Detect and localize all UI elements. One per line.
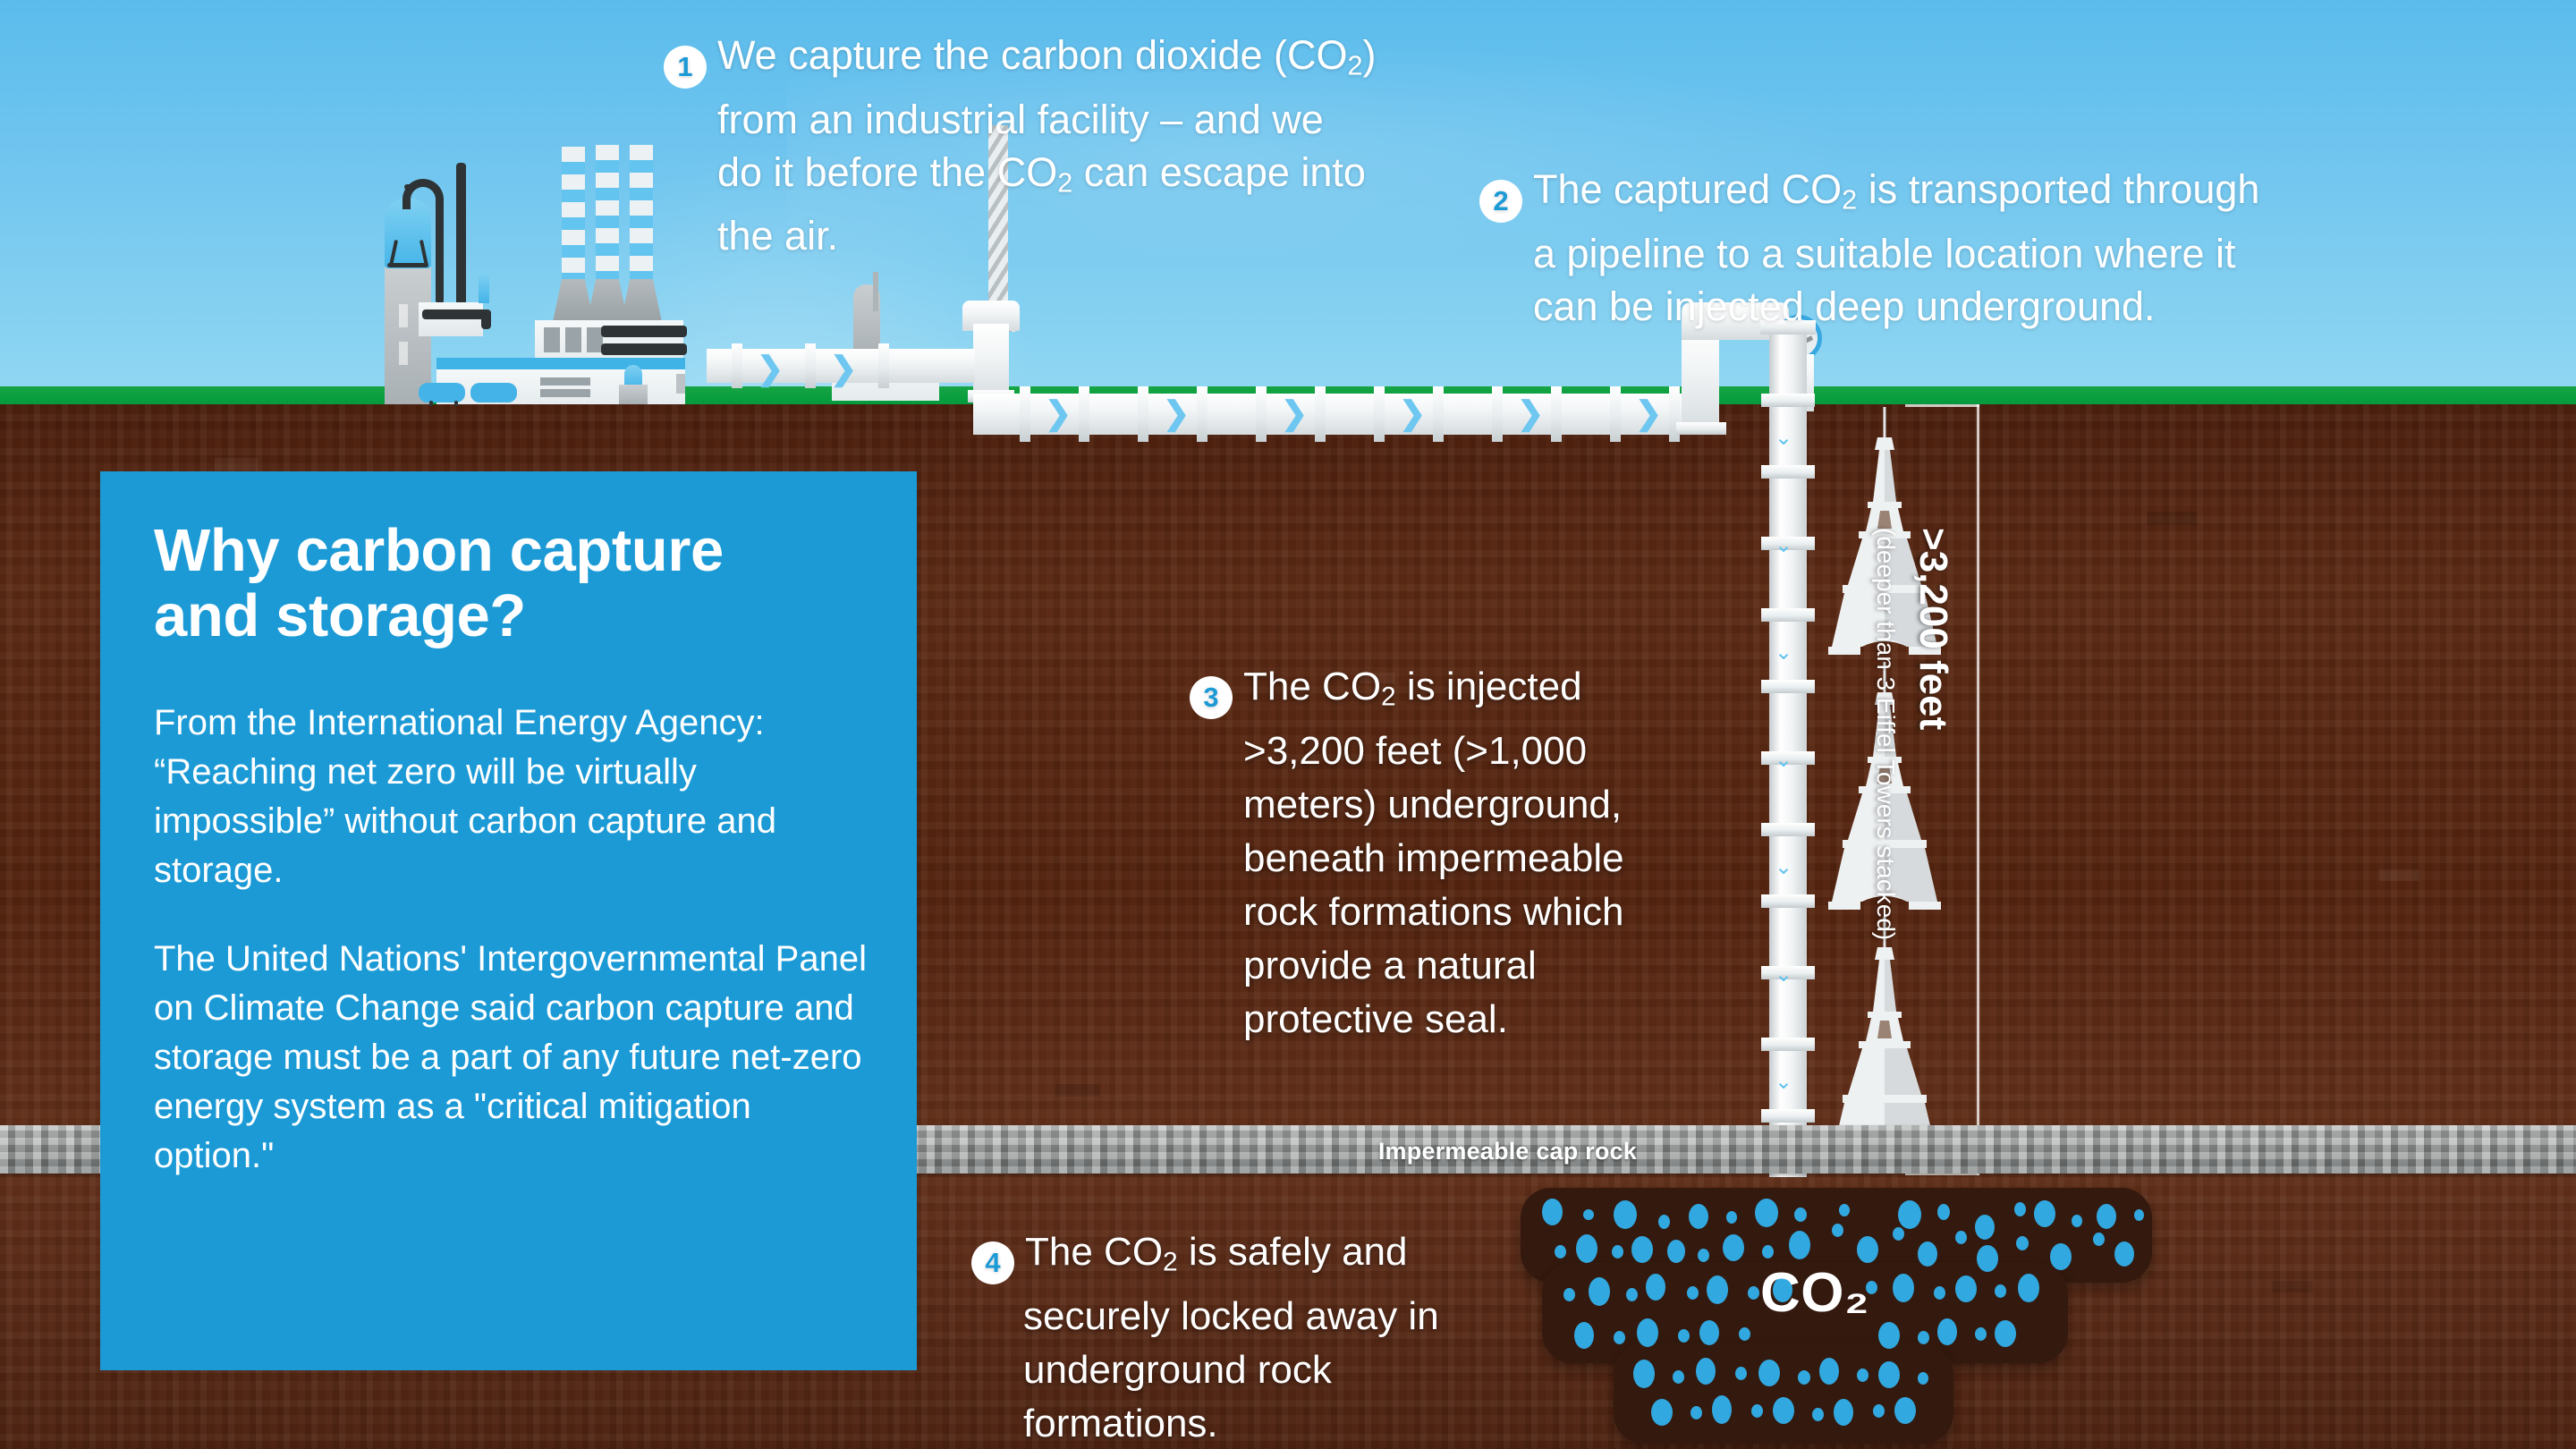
co2-reservoir-label: CO₂: [1760, 1261, 1869, 1325]
depth-bracket-top-tick: [1905, 404, 1979, 407]
co2-flow-down-icon: ⌄: [1775, 750, 1791, 771]
step-3-line-5: rock formations which: [1243, 885, 1624, 939]
step-3-line-3: meters) underground,: [1243, 778, 1624, 832]
step-3-text-1: The CO2 is injected: [1243, 665, 1582, 708]
step-callout-1: 1We capture the carbon dioxide (CO2) fro…: [664, 29, 1377, 262]
step-4-text-1: The CO2 is safely and: [1025, 1230, 1408, 1274]
co2-flow-down-icon: ⌄: [1775, 428, 1791, 449]
flow-arrow-icon: ❯: [1517, 397, 1544, 429]
step-callout-4: 4The CO2 is safely and securely locked a…: [971, 1225, 1439, 1449]
step-number-badge-2: 2: [1479, 180, 1522, 223]
step-2-line-1: 2The captured CO2 is transported through: [1479, 163, 2259, 227]
co2-flow-down-icon: ⌄: [1775, 535, 1791, 556]
step-1-line-2: from an industrial facility – and we: [717, 93, 1377, 146]
panel-paragraph-iea: From the International Energy Agency: “R…: [154, 699, 867, 895]
step-number-badge-3: 3: [1190, 676, 1233, 719]
step-2-text-1: The captured CO2 is transported through: [1533, 166, 2259, 212]
co2-flow-down-icon: ⌄: [1775, 857, 1791, 878]
flow-arrow-icon: ❯: [1045, 397, 1072, 429]
depth-bracket-line: [1977, 404, 1979, 1175]
step-2-line-2: a pipeline to a suitable location where …: [1533, 227, 2259, 280]
step-3-line-6: provide a natural: [1243, 939, 1624, 993]
co2-reservoir: CO₂: [1521, 1181, 2227, 1449]
step-2-line-3: can be injected deep underground.: [1533, 280, 2259, 333]
why-ccs-panel: Why carbon capture and storage? From the…: [100, 471, 917, 1370]
step-callout-3: 3The CO2 is injected >3,200 feet (>1,000…: [1190, 660, 1624, 1046]
panel-paragraph-ipcc: The United Nations' Intergovernmental Pa…: [154, 935, 867, 1181]
step-number-badge-4: 4: [971, 1241, 1014, 1284]
infographic-canvas: ❯ ❯ ❯ ❯ ❯ ❯ ❯ ❯ ⌄ ⌄ ⌄ ⌄ ⌄ ⌄ ⌄: [0, 0, 2576, 1449]
step-4-line-4: formations.: [1023, 1397, 1439, 1449]
panel-title: Why carbon capture and storage?: [154, 518, 867, 648]
flow-arrow-icon: ❯: [1281, 397, 1308, 429]
depth-label-sub: (deeper than 3 Eiffel Towers stacked): [1859, 528, 1900, 1082]
co2-flow-down-icon: ⌄: [1775, 964, 1791, 986]
flow-arrow-icon: ❯: [1163, 397, 1190, 429]
cap-rock-label: Impermeable cap rock: [1252, 1138, 1637, 1165]
step-3-line-7: protective seal.: [1243, 993, 1624, 1046]
step-3-line-2: >3,200 feet (>1,000: [1243, 724, 1624, 778]
step-4-line-1: 4The CO2 is safely and: [971, 1225, 1439, 1290]
step-1-text-1: We capture the carbon dioxide (CO2): [717, 32, 1377, 78]
co2-flow-down-icon: ⌄: [1775, 642, 1791, 664]
flow-arrow-icon: ❯: [830, 352, 857, 385]
flow-arrow-icon: ❯: [1399, 397, 1426, 429]
step-3-line-4: beneath impermeable: [1243, 832, 1624, 885]
step-4-line-2: securely locked away in: [1023, 1290, 1439, 1343]
co2-flow-down-icon: ⌄: [1775, 1072, 1791, 1093]
flow-arrow-icon: ❯: [1635, 397, 1662, 429]
depth-label-main: >3,200 feet: [1902, 528, 1955, 1029]
step-number-badge-1: 1: [664, 46, 707, 89]
panel-title-line-2: and storage?: [154, 582, 526, 649]
step-4-line-3: underground rock: [1023, 1343, 1439, 1397]
step-1-line-3: do it before the CO2 can escape into: [717, 146, 1377, 210]
step-1-line-1: 1We capture the carbon dioxide (CO2): [664, 29, 1377, 93]
panel-title-line-1: Why carbon capture: [154, 517, 724, 584]
step-1-line-4: the air.: [717, 209, 1377, 262]
flow-arrow-icon: ❯: [757, 352, 784, 385]
step-3-line-1: 3The CO2 is injected: [1190, 660, 1624, 724]
step-callout-2: 2The captured CO2 is transported through…: [1479, 163, 2259, 333]
